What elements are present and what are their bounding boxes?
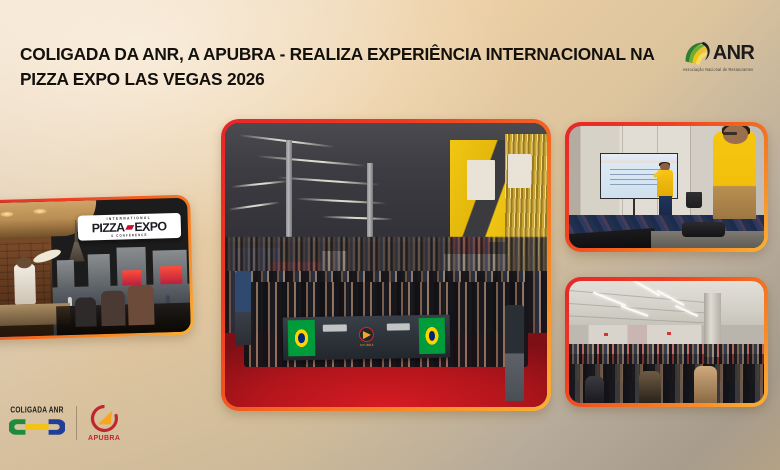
trash-bin: [686, 192, 702, 208]
coligada-anr-label: COLIGADA ANR: [9, 406, 65, 414]
pizza-chef-head: [17, 257, 32, 268]
photo-frame-pizzeria: INTERNATIONAL PIZZA ▰ EXPO & CONFERENCE: [0, 195, 194, 342]
attendee-foreground-right: [505, 305, 524, 402]
strip-billboard: [122, 270, 142, 285]
diner: [75, 297, 97, 327]
photo-frame-expo-hall: APUBRA: [221, 119, 551, 411]
strip-building: [88, 253, 111, 288]
apubra-triangle-icon: [359, 327, 374, 342]
foreground-attendee: [585, 376, 605, 403]
strip-building: [57, 260, 75, 290]
brazil-flag-icon: [288, 320, 315, 356]
anr-wordmark: ANR: [713, 43, 755, 63]
exit-sign-icon: [604, 333, 608, 336]
footer-divider: [76, 406, 77, 440]
booth-banner: [508, 154, 531, 188]
strip-billboard: [160, 266, 182, 284]
anr-swoosh-icon: [682, 39, 712, 66]
sponsor-logo: [387, 323, 411, 331]
attendee-foreground-left: [235, 271, 251, 345]
page-title: COLIGADA DA ANR, A APUBRA - REALIZA EXPE…: [20, 42, 660, 91]
photo-expo-hall: APUBRA: [225, 123, 547, 407]
apubra-banner-label: APUBRA: [360, 343, 374, 347]
photo-presentation: [569, 126, 764, 248]
hall-column: [367, 163, 373, 237]
pizza-expo-sign: INTERNATIONAL PIZZA ▰ EXPO & CONFERENCE: [77, 213, 181, 241]
apubra-logo: APUBRA: [88, 403, 120, 442]
coligada-anr-logo: COLIGADA ANR: [9, 407, 65, 438]
hall-column: [286, 140, 292, 237]
anr-tagline: Associação Nacional de Restaurantes: [668, 68, 768, 73]
foreground-attendee: [694, 366, 717, 403]
diner: [101, 291, 126, 326]
photo-frame-audience: [565, 277, 768, 407]
apubra-triangle-icon: [89, 403, 120, 434]
foreground-attendee: [639, 371, 660, 403]
sponsor-logo: [323, 324, 347, 332]
anr-logo: ANR Associação Nacional de Restaurantes: [668, 38, 768, 80]
apubra-banner: APUBRA: [283, 315, 451, 361]
apubra-label: APUBRA: [88, 435, 120, 443]
diner: [127, 284, 155, 325]
photo-audience-hall: [569, 281, 764, 403]
photo-pizzeria: INTERNATIONAL PIZZA ▰ EXPO & CONFERENCE: [0, 198, 191, 339]
pizza-slice-icon: ▰: [125, 222, 133, 233]
laptop-bag: [682, 222, 725, 237]
booth-banner: [467, 160, 496, 200]
coligada-links-icon: [9, 416, 65, 438]
exit-sign-icon: [667, 332, 671, 335]
photo-frame-presentation: [565, 122, 768, 252]
pizza-chef: [14, 264, 37, 305]
footer-logos: COLIGADA ANR APUBRA: [9, 403, 120, 442]
glasses-icon: [723, 132, 737, 135]
brazil-flag-icon: [418, 318, 445, 354]
foreground-attendee-yellow-shirt: [713, 131, 756, 219]
pizza-expo-sign-expo: EXPO: [134, 220, 166, 233]
